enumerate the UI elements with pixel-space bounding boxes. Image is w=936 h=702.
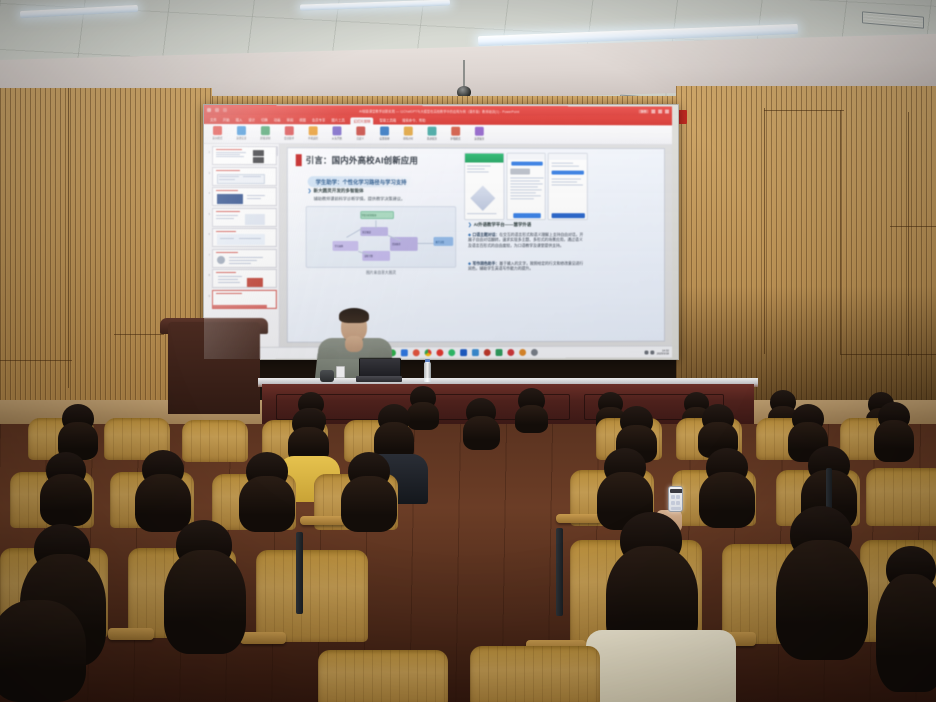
wall-panel-seam [890,226,936,227]
clock-date: 2025/3/18 [657,351,669,355]
ribbon-button-label: 排练计时 [403,137,413,141]
ribbon-button-label: 屏幕录制 [260,136,270,140]
slide-right-heading: ❯AI外语教学平台——慧学外语 [468,222,531,228]
projected-desktop: AI赋能课堂教学创新实践 — 以ChatGPT与大模型在高校教学中的应用为例（课… [204,105,672,359]
right-heading-text: AI外语教学平台——慧学外语 [474,222,532,227]
volume-icon[interactable] [650,350,654,354]
thumbnail-number: 6 [206,228,210,236]
diagram-node-label: 学习画像 [334,244,343,248]
ribbon-button-label: 设置放映 [380,137,390,141]
ribbon-button-screen-record[interactable]: 屏幕录制 [256,126,275,140]
maximize-icon[interactable] [658,110,662,114]
ribbon-button-rehearse-timing[interactable]: 排练计时 [399,127,418,141]
thumbnail-preview[interactable] [211,248,276,267]
presenter-hair [339,308,369,323]
ribbon-button-from-beginning[interactable]: 从头开始 [328,126,347,140]
custom-show-icon [356,126,365,135]
phone-remote-icon [309,126,318,135]
ribbon-tab-search-help[interactable]: 搜索命令、帮助 [402,118,425,123]
diagram-connector [418,243,434,244]
laptop-screen[interactable] [359,358,401,378]
emergency-exit-sign [678,110,687,124]
share-badge[interactable]: 协作 [639,109,649,113]
laptop-keyboard[interactable] [356,376,402,382]
screenshot-green-chat-app [464,153,504,221]
thumbnail-number: 5 [206,208,210,216]
seat-armrest [300,516,346,525]
setup-show-icon [380,127,389,136]
screen-record-icon [261,126,270,135]
thumbnail-logo [216,255,224,263]
thumbnail-preview[interactable] [211,167,276,186]
ribbon-button-label: 墨迹批注 [427,137,437,141]
thumbnail-number: 7 [206,248,210,256]
ribbon-tab-design[interactable]: 设计 [248,117,255,122]
wechat-work-icon[interactable] [495,349,502,356]
thumbnail-number: 2 [206,146,210,154]
thumbnail-preview[interactable] [211,187,276,206]
lecture-hall-scene: AI赋能课堂教学创新实践 — 以ChatGPT与大模型在高校教学中的应用为例（课… [0,0,936,702]
phone-status-bar [670,489,683,493]
ribbon-tab-file[interactable]: 文件 [210,117,217,122]
seat-support-leg [296,532,303,614]
thumbnail-item[interactable]: 7 [206,248,277,267]
microphone [320,370,334,382]
slide-left-bullet-text: 辅助教师课前科学诊断学情，提供教学决策建议。 [314,196,405,202]
thumbnail-number: 3 [206,167,210,175]
slide-title-row: 引言：国内外高校AI创新应用 [296,154,418,166]
thumbnail-image [252,157,263,163]
speaker-notes-icon [475,127,484,136]
ribbon-button-speech-record[interactable]: 演讲实录 [232,126,251,140]
ribbon-tab-transition[interactable]: 切换 [261,117,268,122]
ribbon-button-label: 自定义 [357,136,365,140]
primary-button [552,171,584,175]
ribbon-tab-picture-tools[interactable]: 图片工具 [331,117,344,122]
app-header [465,154,503,163]
thumbnail-item[interactable]: 2 [206,146,277,165]
notes-icon[interactable] [519,349,526,356]
diagram-node-label: 知识图谱 [362,230,371,234]
wps-writer-icon[interactable] [471,349,478,356]
smartphone[interactable] [668,486,683,512]
screenshot-dialog-panel [506,153,546,220]
thumbnail-preview[interactable] [211,228,276,247]
multi-agent-diagram: 学情分析智能体 知识图谱 学习画像 资源推荐 诊断引擎 教学决策 [306,206,456,268]
hair [239,476,295,532]
arrow-bullet-icon: ❯ [468,222,472,227]
slide-title: 引言：国内外高校AI创新应用 [306,154,418,166]
slide-screenshot-row [464,153,588,221]
app-header [507,154,545,160]
hair [874,420,914,462]
ribbon-tab-review[interactable]: 审阅 [286,117,293,122]
speech-record-icon [237,126,246,135]
qq-music-icon[interactable] [448,349,455,356]
thumbnail-accent [212,304,266,308]
ribbon-button-label: 演讲备注 [474,137,484,141]
primary-button [511,162,542,166]
lectern-podium [168,322,260,414]
ink-annotation-icon [428,127,437,136]
arrow-bullet-icon: ❯ [308,188,312,193]
system-tray[interactable]: 14:32 2025/3/18 [644,349,669,355]
meeting-assistant-icon [285,126,294,135]
hair [515,405,548,433]
hair [164,550,246,654]
thumbnail-number: 4 [206,187,210,195]
hair [463,416,500,450]
thumbnail-number: 9 [206,289,210,297]
thumbnail-item[interactable]: 8 [206,269,277,288]
thumbnail-preview[interactable] [211,208,276,227]
thumbnail-item-active[interactable]: 9 [206,289,277,308]
screenshot-writing-panel [548,153,588,220]
camera-mount [463,60,465,88]
ribbon-button-custom-show[interactable]: 自定义 [351,126,370,140]
network-icon[interactable] [644,350,648,354]
360-browser-icon[interactable] [436,349,443,356]
thumbnail-item[interactable]: 6 [206,228,277,247]
wall-right-wood-slats [676,86,936,416]
window-title: AI赋能课堂教学创新实践 — 以ChatGPT与大模型在高校教学中的应用为例（课… [359,108,519,113]
ribbon-tab-smart-toolbox[interactable]: 智能工具箱 [379,118,396,123]
hair [341,476,397,532]
wall-panel-seam [68,88,69,388]
chrome-icon[interactable] [424,349,431,356]
auditorium-seat [256,550,368,642]
ribbon-button-setup-show[interactable]: 设置放映 [375,126,394,140]
redo-icon[interactable] [223,108,227,112]
ribbon-tab-view[interactable]: 视图 [299,117,306,122]
submit-button [513,213,541,218]
pdf-reader-icon[interactable] [507,349,514,356]
thumbnail-diagram [216,234,264,245]
diagram-thumb-icon [470,186,495,211]
auditorium-seat [470,646,600,702]
ribbon-tab-insert[interactable]: 插入 [236,117,243,122]
submit-button [552,213,585,218]
store-icon[interactable] [483,349,490,356]
message-card [510,169,530,175]
windows-taskbar[interactable]: 14:32 2025/3/18 [204,346,672,359]
from-beginning-icon [333,126,342,135]
thumbnail-shape [246,278,262,287]
diagram-node-label: 资源推荐 [392,242,401,246]
ribbon-button-label: 从头开始 [332,136,342,140]
window-controls[interactable]: 协作 [639,109,669,113]
outlook-icon[interactable] [460,349,467,356]
slide-thumbnail-pane[interactable]: 2 3 [204,144,280,347]
presenter-name-badge [336,366,345,378]
auditorium-seat [866,468,936,526]
wall-panel-seam [0,360,72,361]
presenter-hand [345,336,363,352]
undo-icon[interactable] [215,108,219,112]
ribbon-button-meeting-assistant[interactable]: 会议助手 [280,126,299,140]
title-accent-bar [296,154,302,166]
seat-armrest [556,514,602,523]
thumbnail-item[interactable]: 5 [206,208,277,227]
settings-icon[interactable] [530,349,537,356]
ribbon-button-ink-annotation[interactable]: 墨迹批注 [423,127,442,141]
slide-right-bullet-2: ◆写作润色助手：基于输入的文字，按照给定的行文和修改意见进行润色，辅助学生英语写… [468,261,584,272]
slide-right-bullet-1: ◆口语主题对话：在交互的语言形式和语义理解上支持自由对话，开展子自由对话翻转，速… [468,232,584,248]
thumbnail-number: 8 [206,269,210,277]
water-bottle [424,362,431,382]
ribbon-button-label: 演示模式 [212,136,222,140]
thumbnail-preview[interactable] [211,289,276,308]
ribbon-tab-member[interactable]: 会员专享 [312,117,325,122]
hair [407,402,439,430]
wall-panel-seam [764,110,844,111]
auditorium-seat [182,420,248,462]
wall-panel-seam [114,334,164,335]
thumbnail-image [216,194,242,204]
ribbon-button-eye-protect[interactable]: 护眼模式 [446,127,465,141]
hair [876,574,936,692]
seat-armrest [240,632,286,644]
thumbnail-item[interactable]: 4 [206,187,277,206]
minimize-icon[interactable] [651,110,655,114]
thumbnail-item[interactable]: 3 [206,167,277,186]
slide-left-bullet-heading: ❯新大圆灵开发的多智能体 [308,188,364,194]
ribbon-tab-animation[interactable]: 动画 [274,117,281,122]
auditorium-seat [318,650,448,702]
bullet-heading-text: 新大圆灵开发的多智能体 [314,188,364,193]
seat-armrest [108,628,154,640]
search-dog-icon[interactable] [412,349,419,356]
ribbon-button-label: 演讲实录 [236,136,246,140]
ribbon-tab-slideshow[interactable]: 幻灯片放映 [351,117,374,124]
hair [699,472,755,528]
file-explorer-icon[interactable] [400,349,407,356]
ribbon-button-phone-remote[interactable]: 手机遥控 [304,126,323,140]
eye-protect-icon [451,127,460,136]
thumbnail-image [252,150,263,156]
workspace: 2 3 [204,144,672,347]
diagram-node-label: 教学决策 [435,239,444,243]
hair [135,474,191,532]
slide-subtitle-pill: 学生助学：个性化学习路径与学习支持 [308,176,415,187]
diagram-caption: 图片来自澎大图灵 [306,271,456,276]
rehearse-timing-icon [404,127,413,136]
desk-front-panel [430,394,570,420]
hair [40,474,92,526]
diagram-node-label: 诊断引擎 [364,254,373,258]
diagram-connector [376,220,377,228]
ribbon-tab-home[interactable]: 开始 [223,117,230,122]
hair [776,540,868,660]
diamond-bullet-icon: ◆ [468,232,471,237]
ribbon-button-label: 会议助手 [284,136,294,140]
torso [586,630,736,702]
ribbon-command-row[interactable]: 演示模式 演讲实录 屏幕录制 会议助手 手机遥控 [204,124,672,145]
thumbnail-preview[interactable] [211,146,276,165]
thumbnail-image [244,214,264,225]
ribbon-button-label: 护眼模式 [451,137,461,141]
present-mode-icon [213,126,222,135]
diagram-node-label: 学情分析智能体 [361,213,376,217]
app-header [549,154,587,160]
seat-support-leg [556,528,563,616]
ribbon-button-present-mode[interactable]: 演示模式 [208,126,227,140]
ribbon-button-label: 手机遥控 [308,136,318,140]
taskbar-clock[interactable]: 14:32 2025/3/18 [657,349,669,355]
thumbnail-preview[interactable] [211,269,276,288]
diamond-bullet-icon: ◆ [468,261,471,266]
ribbon-button-speaker-notes[interactable]: 演讲备注 [470,127,489,141]
close-icon[interactable] [665,110,669,114]
projection-screen: AI赋能课堂教学创新实践 — 以ChatGPT与大模型在高校教学中的应用为例（课… [203,104,679,360]
save-icon[interactable] [207,108,211,112]
bullet-lead: 口语主题对话： [472,232,499,237]
hair [0,600,86,702]
